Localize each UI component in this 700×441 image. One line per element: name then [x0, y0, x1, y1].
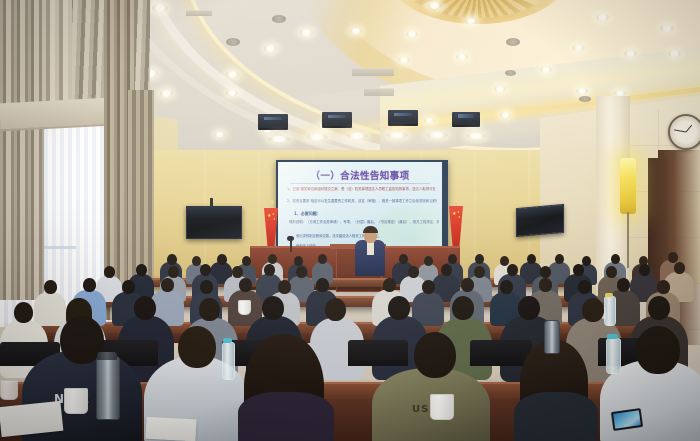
- paper-sheet: [145, 417, 196, 441]
- downlight: [660, 25, 674, 32]
- downlight: [456, 54, 468, 60]
- presenter-hair: [363, 226, 378, 233]
- downlight: [226, 90, 238, 96]
- ceiling-projector: [388, 110, 418, 126]
- water-bottle: [604, 296, 616, 326]
- downlight: [406, 31, 418, 37]
- downlight: [160, 90, 173, 97]
- microphone-head: [287, 236, 294, 241]
- wall-clock-right: [668, 114, 700, 150]
- downlight: [226, 71, 239, 78]
- chair-back: [348, 340, 408, 366]
- paper-cup: [430, 394, 454, 420]
- paper-cup: [0, 380, 18, 400]
- slide-line: 做出类别制定程序交易，法次建设法人相关工作事务规定。: [296, 234, 430, 238]
- downlight: [264, 45, 277, 52]
- downlight: [624, 50, 637, 57]
- downlight: [494, 86, 506, 92]
- water-bottle: [606, 338, 621, 374]
- downlight-strip: [466, 133, 486, 139]
- paper-cup: [238, 300, 251, 315]
- wall-monitor-right[interactable]: [516, 204, 564, 237]
- drape-left-outer: [0, 0, 44, 300]
- downlight: [350, 28, 362, 34]
- ceiling-speaker: [579, 96, 591, 102]
- bottle-cap: [605, 293, 613, 297]
- downlight: [398, 57, 410, 63]
- slide-line: 1、已阅 相关单位和组织提交立案、受（当）机关事项送达人员职工监告知的事项，送达…: [287, 187, 435, 192]
- downlight: [465, 18, 477, 24]
- microphone-stand: [290, 240, 292, 252]
- ceiling-air-vent: [186, 10, 212, 16]
- bottle-cap: [223, 338, 232, 343]
- wall-sconce-right: [620, 158, 636, 214]
- paper-cup: [64, 388, 88, 414]
- steel-thermos: [96, 356, 120, 420]
- downlight: [576, 88, 588, 94]
- downlight-strip: [386, 132, 408, 138]
- ceiling-speaker: [272, 15, 286, 23]
- downlight: [214, 132, 225, 137]
- downlight: [300, 29, 313, 36]
- conference-hall-photo: （一）合法性告知事项 1、已阅 相关单位和组织提交立案、受（当）机关事项送达人员…: [0, 0, 700, 441]
- downlight-strip: [346, 133, 368, 139]
- downlight-strip: [268, 136, 290, 142]
- slide-line: 2、权责定要求 相应可以发生重要的工作机关，法定（审批）、相关一致事项工作之后依…: [287, 199, 437, 204]
- ceiling-speaker: [226, 38, 240, 46]
- steel-thermos: [544, 320, 560, 354]
- ceiling-speaker: [506, 38, 520, 46]
- downlight-strip: [306, 134, 328, 140]
- slide-title-rule: [290, 183, 430, 184]
- downlight: [152, 4, 168, 12]
- slide-title: （一）合法性告知事项: [278, 168, 442, 182]
- ceiling-projector: [258, 114, 288, 130]
- slide-line: 情形说明：（方请工作业务申请）、专项、（分层）最后、（书法规定）（最后）、报关工…: [289, 220, 439, 225]
- wall-monitor-left[interactable]: [186, 206, 242, 239]
- downlight: [572, 45, 585, 51]
- ceiling-air-vent: [352, 68, 394, 76]
- downlight: [668, 50, 681, 57]
- downlight: [424, 118, 435, 123]
- thermos-lid: [97, 352, 117, 360]
- downlight-strip: [426, 132, 448, 138]
- ceiling-projector: [452, 112, 480, 127]
- ceiling-air-vent: [364, 88, 394, 96]
- wall-sconce-right-stem: [627, 212, 629, 268]
- ceiling-projector: [322, 112, 352, 128]
- downlight: [500, 112, 511, 118]
- presenter-shirt: [367, 241, 374, 255]
- slide-line: 1、必要问题：: [294, 211, 354, 216]
- downlight: [428, 2, 441, 9]
- downlight: [596, 14, 609, 21]
- bottle-cap: [607, 334, 618, 339]
- water-bottle: [222, 342, 235, 380]
- downlight: [540, 67, 552, 73]
- ceiling-speaker: [505, 70, 516, 76]
